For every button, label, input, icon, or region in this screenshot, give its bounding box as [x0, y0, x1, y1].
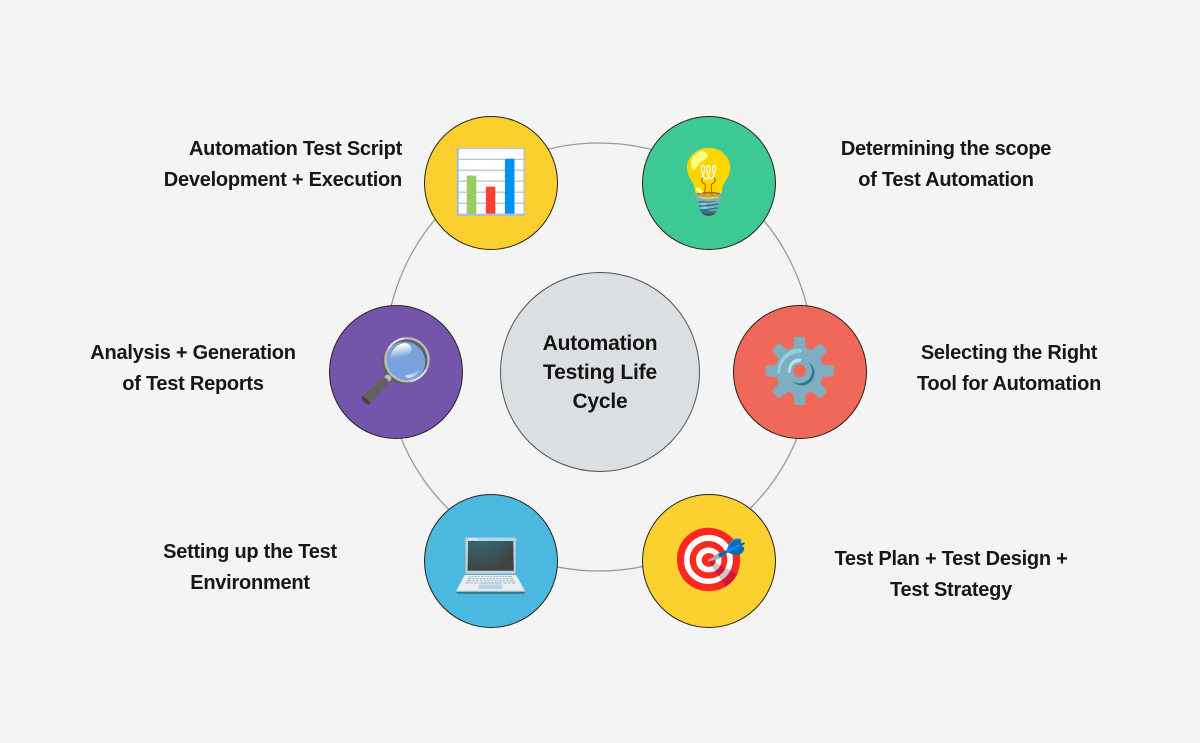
label-script-development: Automation Test Script Development + Exe… [110, 134, 402, 195]
bar-chart-icon: 📊 [452, 152, 529, 214]
bullseye-dart-icon: 🎯 [670, 530, 747, 592]
automation-testing-life-cycle-diagram: Automation Testing Life Cycle 📊 Automati… [0, 0, 1200, 743]
magnifying-glass-icon: 🔎 [357, 341, 434, 403]
gear-icon: ⚙️ [761, 341, 838, 403]
hub-circle: Automation Testing Life Cycle [500, 272, 700, 472]
label-reports: Analysis + Generation of Test Reports [68, 338, 318, 399]
node-scope[interactable]: 💡 [642, 116, 776, 250]
node-test-plan[interactable]: 🎯 [642, 494, 776, 628]
node-reports[interactable]: 🔎 [329, 305, 463, 439]
node-script-development[interactable]: 📊 [424, 116, 558, 250]
hub-label: Automation Testing Life Cycle [543, 329, 658, 416]
laptop-icon: 💻 [452, 530, 529, 592]
node-tool-selection[interactable]: ⚙️ [733, 305, 867, 439]
node-environment[interactable]: 💻 [424, 494, 558, 628]
label-scope: Determining the scope of Test Automation [800, 134, 1092, 195]
label-test-plan: Test Plan + Test Design + Test Strategy [805, 544, 1097, 605]
label-environment: Setting up the Test Environment [128, 537, 372, 598]
label-tool-selection: Selecting the Right Tool for Automation [884, 338, 1134, 399]
lightbulb-icon: 💡 [670, 152, 747, 214]
